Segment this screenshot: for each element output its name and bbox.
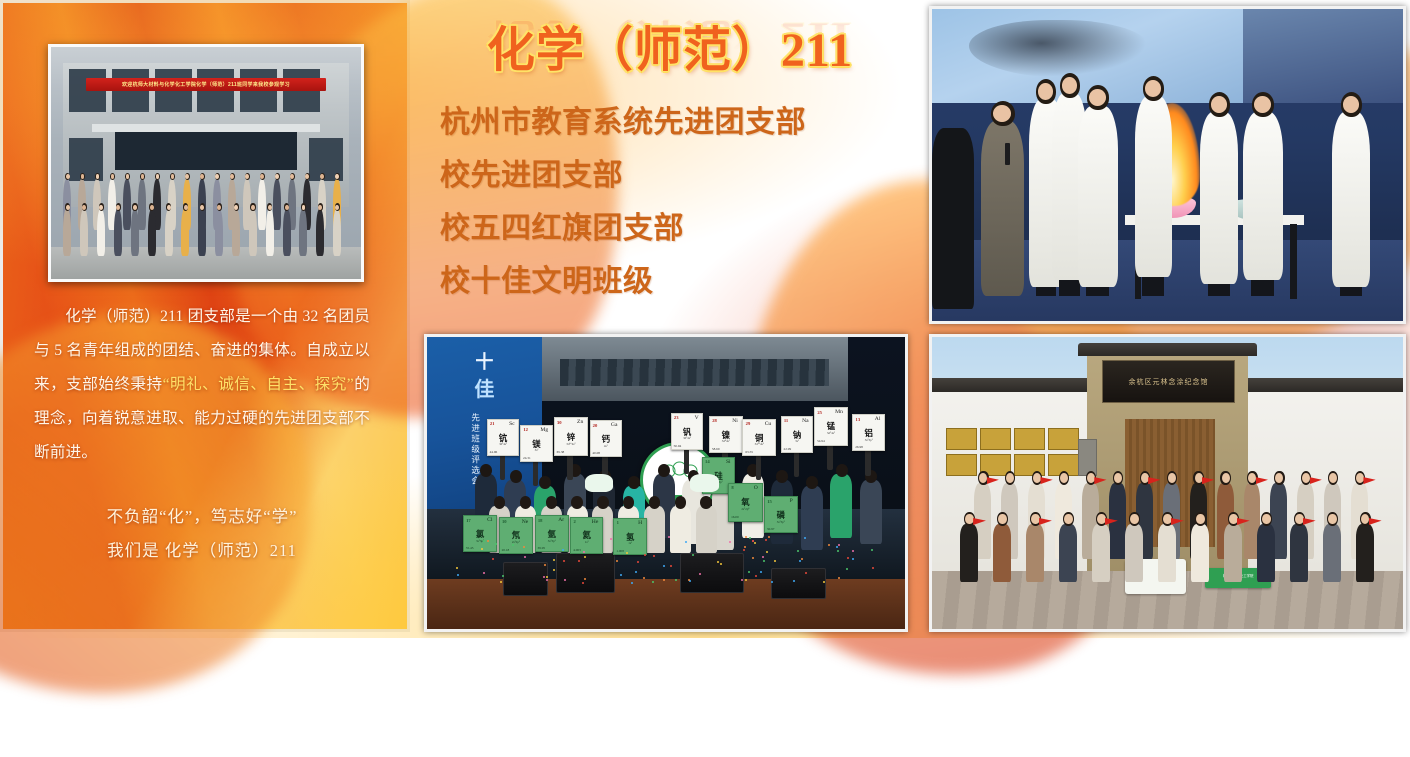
confetti-piece <box>729 541 731 543</box>
student-seated <box>696 506 717 553</box>
element-card: 11Na钠3s¹22.99 <box>781 416 814 453</box>
element-number: 11 <box>784 418 788 423</box>
visitor-face <box>1196 514 1204 525</box>
person <box>80 209 88 255</box>
raised-arm <box>827 444 832 470</box>
element-config: 3d¹⁰4s¹ <box>743 442 775 446</box>
student-seated <box>670 506 691 553</box>
element-number: 1 <box>617 520 619 525</box>
person <box>316 209 324 255</box>
person <box>258 179 266 230</box>
microphone-icon <box>1005 143 1010 165</box>
visitor-face <box>1295 514 1303 525</box>
element-card: 21Sc钪3d¹4s²44.96 <box>487 419 520 456</box>
element-card: 29Cu铜3d¹⁰4s¹63.55 <box>742 419 776 456</box>
visitor-face <box>1262 514 1270 525</box>
confetti-piece <box>838 544 840 546</box>
performer <box>1135 96 1173 277</box>
person <box>215 209 223 255</box>
element-number: 12 <box>523 427 528 432</box>
element-card: 1H氢1s¹1.008 <box>613 518 647 555</box>
element-config: 1s¹ <box>614 541 646 545</box>
student-seated-head <box>571 496 582 509</box>
photo-group-visit: 欢迎杭师大材料与化学化工学院化学（师范）211班同学来我校参观学习 <box>48 44 364 282</box>
confetti-piece <box>846 568 848 570</box>
element-symbol: P <box>790 498 793 504</box>
element-weight: 44.96 <box>490 450 498 454</box>
person <box>97 209 105 255</box>
confetti-piece <box>871 549 873 551</box>
visitor <box>1290 524 1308 582</box>
element-weight: 4.003 <box>573 548 581 552</box>
performer-face <box>1254 96 1271 113</box>
person-face <box>133 205 137 210</box>
element-symbol: Ar <box>558 517 564 523</box>
element-weight: 65.38 <box>557 450 565 454</box>
person <box>123 179 131 230</box>
backdrop-line-2: 佳 <box>434 379 535 403</box>
confetti-piece <box>823 581 825 583</box>
person <box>114 209 122 255</box>
honor-plaque <box>1014 428 1045 450</box>
memorial-plaque: 余杭区元林念涂纪念馆 <box>1102 360 1236 403</box>
performer-legs <box>1340 287 1362 296</box>
element-symbol: O <box>754 485 758 491</box>
visitor-face <box>998 514 1006 525</box>
confetti-piece <box>799 560 801 562</box>
visitor-face <box>965 514 973 525</box>
element-number: 2 <box>574 519 576 524</box>
confetti-piece <box>653 555 655 557</box>
element-symbol: Si <box>726 459 731 465</box>
element-number: 28 <box>712 418 717 423</box>
confetti-piece <box>637 561 639 563</box>
backdrop-line-1: 十 <box>434 352 535 373</box>
person-face <box>150 205 154 210</box>
person <box>138 179 146 230</box>
element-weight: 1.008 <box>616 549 624 553</box>
award-item-4: 校十佳文明班级 <box>440 255 910 308</box>
confetti-piece <box>643 577 645 579</box>
element-number: 10 <box>502 519 507 524</box>
element-weight: 16.00 <box>731 515 739 519</box>
info-board <box>1078 439 1097 476</box>
performer <box>1332 112 1370 287</box>
stage-monitor-4 <box>771 568 826 599</box>
element-config: 3s²3p³ <box>765 520 797 524</box>
visitor-face <box>1195 473 1203 484</box>
element-config: 1s² <box>571 540 602 544</box>
element-weight: 26.98 <box>855 445 863 449</box>
honor-plaque <box>1048 428 1079 450</box>
stage-monitor-1 <box>503 562 548 596</box>
person-face <box>66 205 70 210</box>
stage-apron <box>427 579 905 629</box>
visitor-face <box>1097 514 1105 525</box>
student-seated-head <box>675 496 686 509</box>
visitor <box>960 524 978 582</box>
person <box>283 209 291 255</box>
award-item-1: 杭州市教育系统先进团支部 <box>440 96 910 149</box>
person <box>63 209 71 255</box>
slogan-block: 不负韶“化”，笃志好“学” 我们是 化学（师范）211 <box>34 500 370 568</box>
performer-face <box>1062 77 1077 94</box>
confetti-piece <box>741 579 743 581</box>
element-card: 10Ne氖2s²2p⁶20.18 <box>499 517 534 554</box>
person-face <box>99 205 103 210</box>
person-face <box>66 174 70 179</box>
confetti-piece <box>456 567 458 569</box>
person-face <box>167 205 171 210</box>
confetti-piece <box>483 572 485 574</box>
person <box>266 209 274 255</box>
student-head <box>836 464 848 477</box>
performer-legs <box>1059 280 1079 296</box>
person-face <box>116 205 120 210</box>
person-face <box>285 205 289 210</box>
student-head <box>510 470 522 483</box>
person <box>333 209 341 255</box>
photo-ten-best-class: 十 佳 先进班级评选会 21Sc钪3d¹4s²44.9612Mg镁3s²24.3… <box>424 334 908 632</box>
element-card: 2He氦1s²4.003 <box>570 517 603 554</box>
element-symbol: Cu <box>765 421 772 427</box>
confetti-piece <box>564 579 566 581</box>
element-symbol: Sc <box>509 421 515 427</box>
person <box>249 209 257 255</box>
stage-monitor-2 <box>556 553 615 593</box>
element-config: 2s²2p⁴ <box>729 507 762 511</box>
confetti-piece <box>852 558 854 560</box>
element-number: 30 <box>557 420 562 425</box>
confetti-piece <box>717 561 719 563</box>
photo-entrance <box>115 132 298 169</box>
confetti-piece <box>500 581 502 583</box>
page-title: 化学（师范）211 <box>424 10 916 80</box>
element-card: 13Al铝3s²3p¹26.98 <box>852 414 885 451</box>
headline-block: 化学（师范）211 化学（师范）211 杭州市教育系统先进团支部校先进团支部校五… <box>424 0 916 322</box>
raised-arm <box>865 449 870 475</box>
confetti-piece <box>763 560 765 562</box>
performer <box>1200 112 1238 284</box>
performer-legs <box>1208 284 1230 296</box>
element-symbol: Na <box>802 418 809 424</box>
element-weight: 50.94 <box>674 444 682 448</box>
confetti-piece <box>584 556 586 558</box>
left-intro-panel: 欢迎杭师大材料与化学化工学院化学（师范）211班同学来我校参观学习 化学（师范）… <box>0 0 410 632</box>
performer-legs <box>1142 277 1164 296</box>
student-head <box>806 476 818 489</box>
confetti-piece <box>692 554 694 556</box>
welcome-banner: 欢迎杭师大材料与化学化工学院化学（师范）211班同学来我校参观学习 <box>86 78 326 91</box>
element-card: 12Mg镁3s²24.31 <box>520 425 553 462</box>
confetti-piece <box>652 581 654 583</box>
element-card: 8O氧2s²2p⁴16.00 <box>728 483 763 522</box>
element-symbol: Al <box>875 416 881 422</box>
raised-arm <box>533 460 538 486</box>
element-card: 17Cl氯3s²3p⁵35.45 <box>463 515 498 552</box>
raised-arm <box>500 454 505 480</box>
element-symbol: Cl <box>487 517 492 523</box>
visitor <box>1191 524 1209 582</box>
person <box>165 209 173 255</box>
element-config: 3s² <box>521 448 552 452</box>
person <box>198 209 206 255</box>
element-number: 17 <box>466 518 471 523</box>
element-config: 3s²3p¹ <box>853 438 884 442</box>
award-item-3: 校五四红旗团支部 <box>440 202 910 255</box>
performer-legs <box>1251 280 1274 296</box>
element-number: 23 <box>674 415 679 420</box>
student <box>830 474 852 538</box>
element-weight: 54.94 <box>817 439 825 443</box>
element-number: 20 <box>593 423 598 428</box>
intro-paragraph: 化学（师范）211 团支部是一个由 32 名团员与 5 名青年组成的团结、奋进的… <box>34 300 370 470</box>
visitor <box>1356 524 1374 582</box>
element-symbol: Ne <box>522 519 529 525</box>
element-weight: 40.08 <box>592 451 600 455</box>
visitor-face <box>1114 473 1122 484</box>
confetti-piece <box>523 546 525 548</box>
performer-legs <box>1086 287 1109 296</box>
confetti-piece <box>582 582 584 584</box>
confetti-piece <box>805 572 807 574</box>
roof-right <box>1243 378 1403 393</box>
visitor-face <box>1168 473 1176 484</box>
element-weight: 58.69 <box>712 447 720 451</box>
raised-arm <box>756 454 761 480</box>
visitor-face <box>1130 514 1138 525</box>
roof-left <box>932 378 1092 393</box>
confetti-piece <box>745 579 747 581</box>
person <box>148 209 156 255</box>
raised-arm <box>794 451 799 477</box>
element-weight: 63.55 <box>745 450 753 454</box>
student-seated-head <box>649 496 660 509</box>
element-number: 25 <box>817 410 822 415</box>
foreground-silhouette <box>932 128 974 309</box>
element-weight: 24.31 <box>523 456 531 460</box>
element-symbol: V <box>695 415 699 421</box>
memorial-plaque-text: 余杭区元林念涂纪念馆 <box>1128 377 1208 387</box>
confetti-piece <box>543 576 545 578</box>
element-weight: 22.99 <box>784 447 792 451</box>
element-config: 3s²3p⁵ <box>464 539 497 543</box>
gate-roof <box>1078 343 1257 356</box>
person-face <box>335 205 339 210</box>
visitor-face <box>1328 514 1336 525</box>
visitor <box>1092 524 1110 582</box>
award-list: 杭州市教育系统先进团支部校先进团支部校五四红旗团支部校十佳文明班级 <box>440 96 910 308</box>
student <box>801 486 823 550</box>
element-config: 3d¹⁰4s² <box>555 442 588 446</box>
performer <box>1078 106 1118 287</box>
confetti-piece <box>752 540 754 542</box>
visitor-face <box>1064 514 1072 525</box>
slogan-cutout-prop <box>585 474 614 492</box>
slogan-cutout-prop <box>690 474 719 492</box>
element-card: 18Ar氩3s²3p⁶39.95 <box>535 515 570 552</box>
confetti-piece <box>631 582 633 584</box>
confetti-piece <box>563 560 565 562</box>
element-number: 29 <box>746 421 751 426</box>
element-card: 28Ni镍3d⁸4s²58.69 <box>709 416 743 453</box>
visitor-face <box>1229 514 1237 525</box>
confetti-piece <box>626 552 628 554</box>
confetti-piece <box>765 539 767 541</box>
honor-plaque <box>946 428 977 450</box>
element-number: 18 <box>538 518 543 523</box>
honor-plaque <box>980 428 1011 450</box>
student <box>860 480 882 544</box>
overhead-screen <box>542 337 848 401</box>
table-leg-right <box>1290 224 1297 299</box>
person-face <box>268 205 272 210</box>
confetti-piece <box>847 557 849 559</box>
student-seated-head <box>700 496 711 509</box>
element-weight: 20.18 <box>502 548 510 552</box>
person-face <box>184 205 188 210</box>
award-item-2: 校先进团支部 <box>440 149 910 202</box>
element-symbol: He <box>592 519 599 525</box>
student-seated-head <box>546 496 557 509</box>
element-config: 2s²2p⁶ <box>500 540 533 544</box>
projection-screen <box>932 9 1243 103</box>
element-number: 8 <box>731 485 733 490</box>
element-card: 25Mn锰3d⁵4s²54.94 <box>814 407 848 446</box>
element-number: 13 <box>856 417 861 422</box>
performer <box>1243 112 1283 280</box>
projection-screen-right <box>1243 9 1403 103</box>
confetti-piece <box>644 554 646 556</box>
person <box>299 209 307 255</box>
student-seated <box>644 506 665 553</box>
visitor-face <box>1222 473 1230 484</box>
element-symbol: Mg <box>540 427 548 433</box>
element-card: 15P磷3s²3p³30.97 <box>764 496 798 533</box>
element-number: 21 <box>490 421 495 426</box>
person <box>232 209 240 255</box>
element-card: 23V钒3d³4s²50.94 <box>671 413 704 450</box>
confetti-piece <box>699 573 701 575</box>
confetti-piece <box>752 557 754 559</box>
visitor <box>993 524 1011 582</box>
person-face <box>217 205 221 210</box>
person <box>131 209 139 255</box>
element-config: 4s² <box>591 444 622 448</box>
confetti-piece <box>487 540 489 542</box>
confetti-piece <box>762 556 764 558</box>
slogan-line-1: 不负韶“化”，笃志好“学” <box>34 500 370 534</box>
confetti-piece <box>457 574 459 576</box>
photo-canopy <box>92 124 320 133</box>
element-config: 3d⁸4s² <box>710 439 742 443</box>
confetti-piece <box>838 577 840 579</box>
student-seated-head <box>597 496 608 509</box>
visitor <box>1158 524 1176 582</box>
element-card: 30Zn锌3d¹⁰4s²65.38 <box>554 417 589 456</box>
visitor-face <box>1031 514 1039 525</box>
student-seated-head <box>520 496 531 509</box>
confetti-piece <box>616 560 618 562</box>
raised-arm <box>684 448 689 474</box>
performer <box>981 121 1023 296</box>
element-config: 3s²3p⁶ <box>536 539 569 543</box>
photo-chem-show <box>929 6 1406 324</box>
visitor <box>1059 524 1077 582</box>
element-config: 3d¹4s² <box>488 442 519 446</box>
element-config: 3d⁵4s² <box>815 431 847 435</box>
performer-face <box>993 105 1011 122</box>
visitor <box>1224 524 1242 582</box>
visitor <box>1257 524 1275 582</box>
person-face <box>251 205 255 210</box>
element-symbol: H <box>638 520 642 526</box>
person-face <box>234 205 238 210</box>
performer-face <box>1211 96 1227 113</box>
element-symbol: Zn <box>577 419 583 425</box>
element-card: 20Ga钙4s²40.08 <box>590 420 623 457</box>
raised-arm <box>567 454 572 480</box>
confetti-piece <box>670 565 672 567</box>
element-config: 3s¹ <box>782 439 813 443</box>
performer-face <box>1343 96 1359 113</box>
element-symbol: Ni <box>732 418 738 424</box>
photo-memorial-visit: 余杭区元林念涂纪念馆 材料与化学化工学院 <box>929 334 1406 632</box>
visitor <box>1323 524 1341 582</box>
slogan-line-2: 我们是 化学（师范）211 <box>34 534 370 568</box>
performer-legs <box>1036 287 1056 296</box>
performer-face <box>1145 80 1161 97</box>
element-config: 3d³4s² <box>672 436 703 440</box>
element-weight: 35.45 <box>466 546 474 550</box>
stage-monitor-3 <box>680 553 744 593</box>
visitor <box>1026 524 1044 582</box>
honor-plaque <box>946 454 977 476</box>
element-symbol: Mn <box>835 409 843 415</box>
person <box>181 209 189 255</box>
person <box>273 179 281 230</box>
element-weight: 30.97 <box>767 527 775 531</box>
visitor <box>1125 524 1143 582</box>
visitor-face <box>1141 473 1149 484</box>
element-symbol: Ga <box>611 422 618 428</box>
element-number: 14 <box>705 459 710 464</box>
confetti-piece <box>804 537 806 539</box>
element-number: 15 <box>767 499 772 504</box>
visitor-face <box>1163 514 1171 525</box>
element-weight: 39.95 <box>537 546 545 550</box>
intro-segment-2: “明礼、诚信、自主、探究” <box>163 376 354 393</box>
poster-canvas: 欢迎杭师大材料与化学化工学院化学（师范）211班同学来我校参观学习 化学（师范）… <box>0 0 1410 638</box>
welcome-banner-text: 欢迎杭师大材料与化学化工学院化学（师范）211班同学来我校参观学习 <box>122 81 290 88</box>
